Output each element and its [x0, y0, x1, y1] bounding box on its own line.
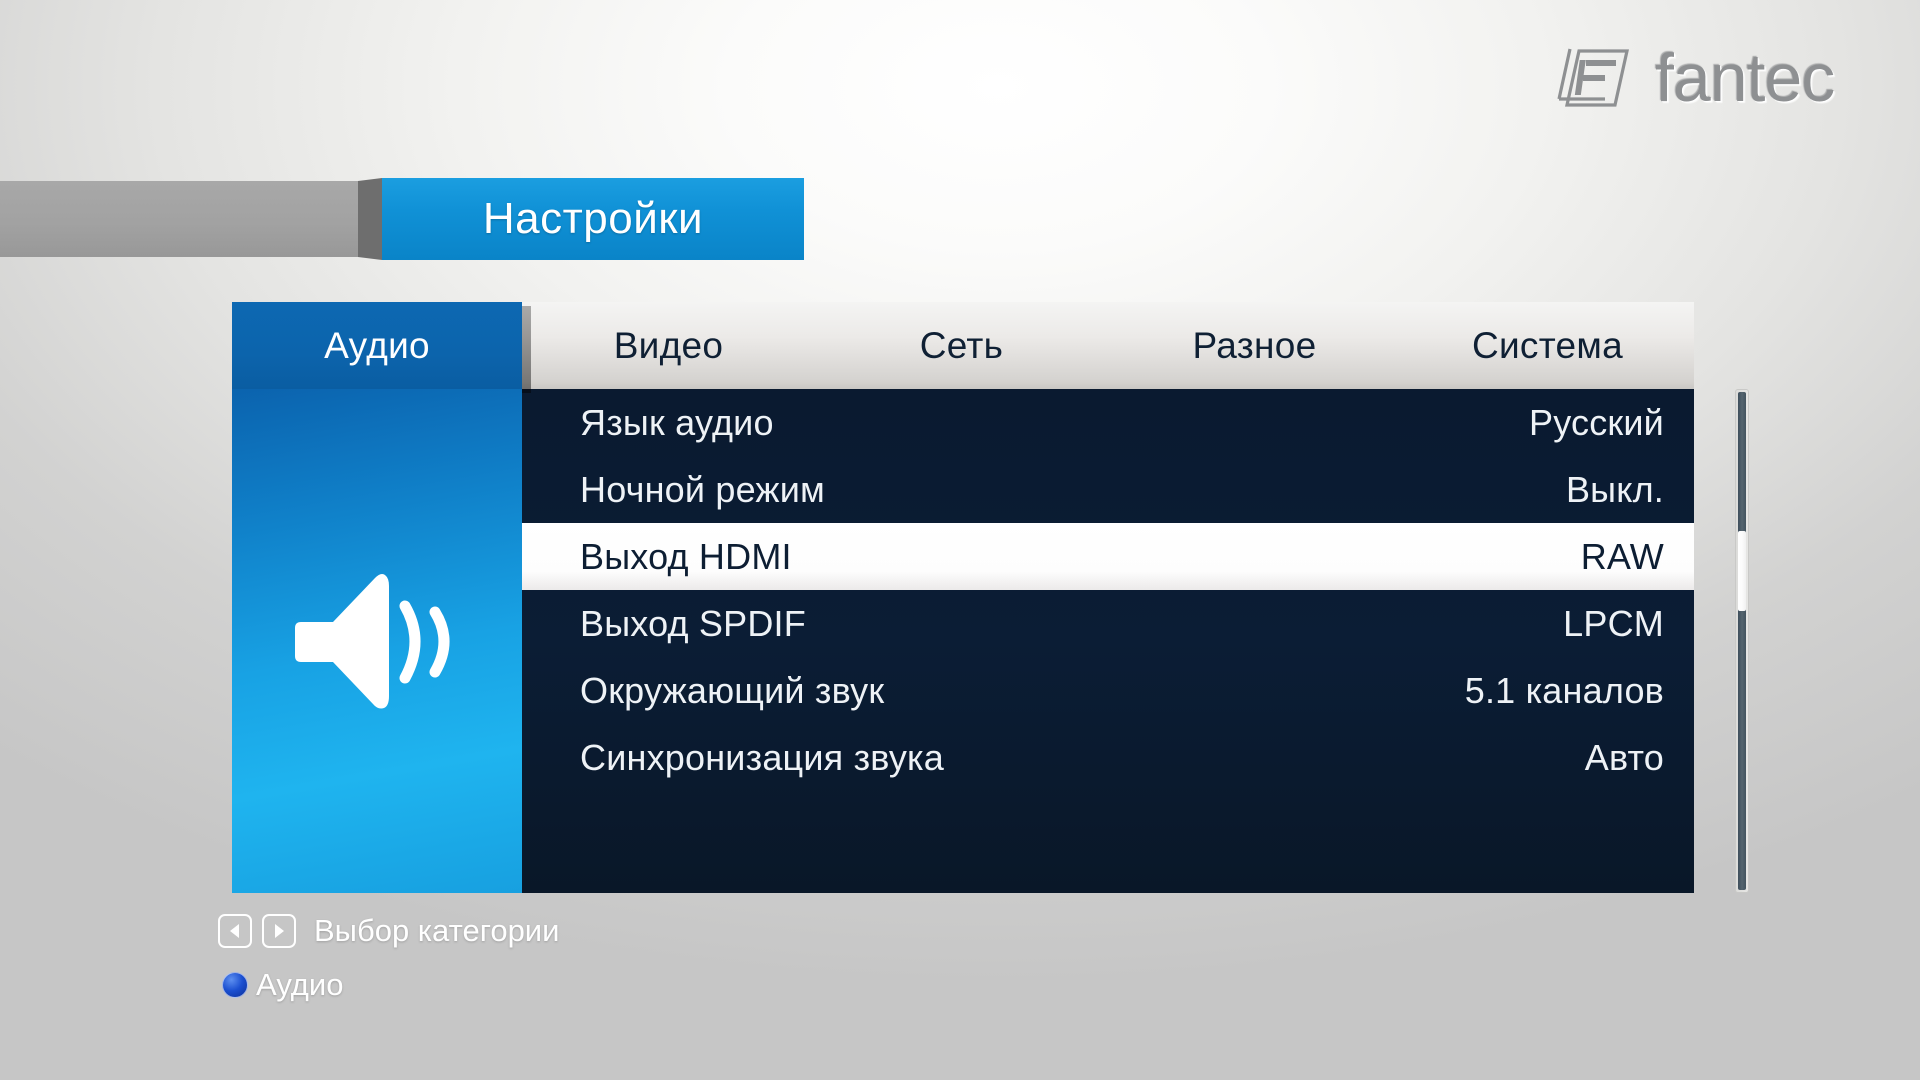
- tab-system[interactable]: Система: [1401, 325, 1694, 367]
- titlebar: Настройки: [0, 178, 805, 260]
- tv-settings-screen: fantec Настройки Видео Сеть Разное Систе…: [0, 0, 1920, 1080]
- setting-label: Выход HDMI: [580, 536, 792, 578]
- category-icon-panel: [232, 389, 522, 893]
- hint-audio-label: Аудио: [256, 967, 343, 1003]
- tab-misc[interactable]: Разное: [1108, 325, 1401, 367]
- page-title-tab: Настройки: [382, 178, 804, 260]
- setting-row-audio-language[interactable]: Язык аудио Русский: [522, 389, 1694, 456]
- setting-row-surround-sound[interactable]: Окружающий звук 5.1 каналов: [522, 657, 1694, 724]
- setting-value: Авто: [1585, 737, 1664, 779]
- scrollbar-track[interactable]: [1738, 392, 1746, 890]
- setting-label: Выход SPDIF: [580, 603, 806, 645]
- setting-value: LPCM: [1563, 603, 1664, 645]
- category-tabs: Видео Сеть Разное Система: [522, 302, 1694, 389]
- speaker-volume-icon: [285, 566, 470, 716]
- tab-audio-label: Аудио: [324, 325, 430, 367]
- setting-label: Язык аудио: [580, 402, 774, 444]
- fantec-f-mark-icon: [1555, 44, 1641, 112]
- setting-label: Окружающий звук: [580, 670, 884, 712]
- setting-row-hdmi-output[interactable]: Выход HDMI RAW: [522, 523, 1694, 590]
- setting-row-night-mode[interactable]: Ночной режим Выкл.: [522, 456, 1694, 523]
- fantec-wordmark: fantec: [1655, 44, 1834, 112]
- hint-audio-button: Аудио: [218, 962, 1118, 1008]
- setting-value: Русский: [1529, 402, 1664, 444]
- tab-video[interactable]: Видео: [522, 325, 815, 367]
- setting-label: Ночной режим: [580, 469, 825, 511]
- setting-value: 5.1 каналов: [1465, 670, 1664, 712]
- titlebar-bevel: [358, 178, 382, 260]
- scrollbar-thumb[interactable]: [1738, 531, 1746, 611]
- blue-circle-button-icon[interactable]: [222, 972, 248, 998]
- hint-category-navigation-label: Выбор категории: [314, 913, 559, 949]
- settings-panel: Видео Сеть Разное Система Аудио Язык ауд…: [232, 302, 1694, 893]
- arrow-left-icon[interactable]: [218, 914, 252, 948]
- setting-row-audio-sync[interactable]: Синхронизация звука Авто: [522, 724, 1694, 791]
- setting-row-spdif-output[interactable]: Выход SPDIF LPCM: [522, 590, 1694, 657]
- titlebar-gray-bar: [0, 181, 360, 257]
- setting-label: Синхронизация звука: [580, 737, 944, 779]
- list-scrollbar[interactable]: [1735, 389, 1749, 893]
- tab-network[interactable]: Сеть: [815, 325, 1108, 367]
- fantec-logo: fantec: [1555, 32, 1885, 124]
- tab-audio-shadow: [522, 306, 531, 393]
- tab-audio[interactable]: Аудио: [232, 302, 522, 389]
- settings-list: Язык аудио Русский Ночной режим Выкл. Вы…: [522, 389, 1694, 893]
- setting-value: RAW: [1581, 536, 1664, 578]
- page-title: Настройки: [483, 194, 703, 244]
- hint-category-navigation: Выбор категории: [218, 908, 1118, 954]
- arrow-right-icon[interactable]: [262, 914, 296, 948]
- setting-value: Выкл.: [1566, 469, 1664, 511]
- footer-hints: Выбор категории Аудио: [218, 908, 1118, 1016]
